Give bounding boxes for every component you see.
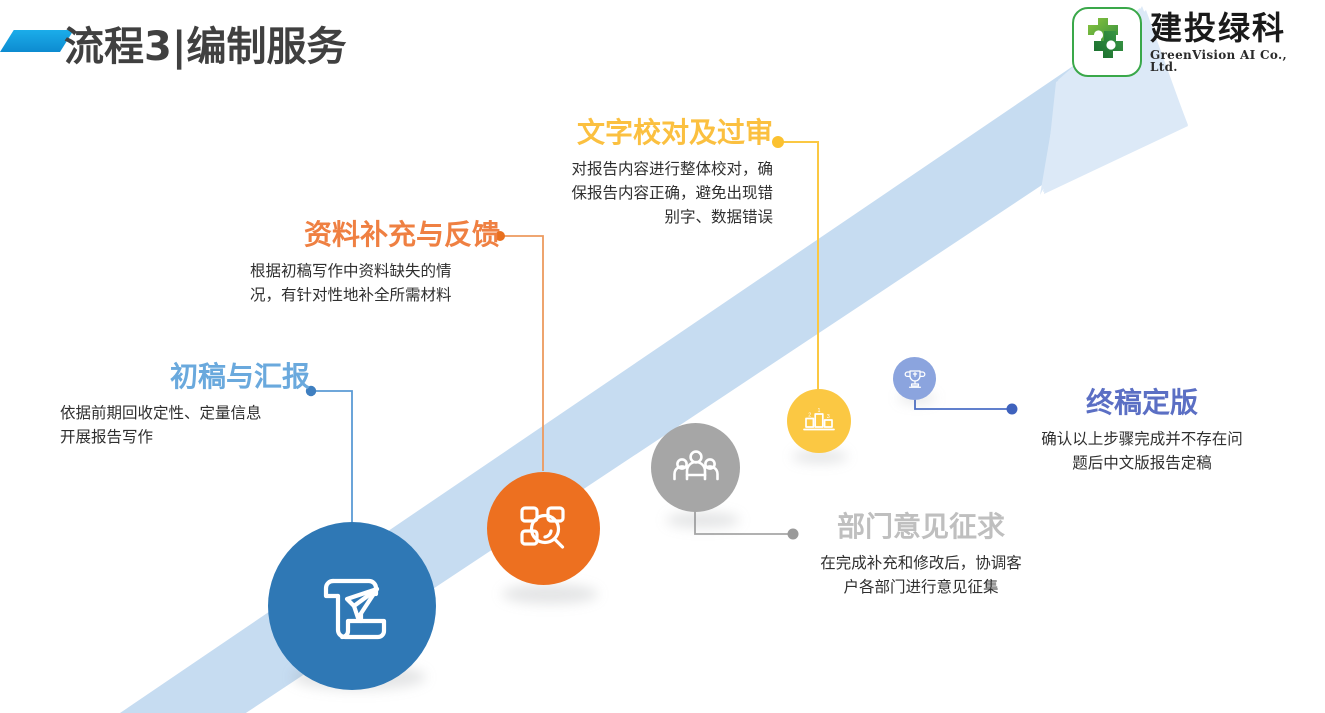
people-group-icon (671, 443, 721, 493)
step-body-line: 保报告内容正确，避免出现错 (528, 181, 773, 205)
node-shadow-material (502, 584, 598, 604)
step-node-final-version[interactable] (893, 357, 936, 400)
step-body-line: 确认以上步骤完成并不存在问 (1022, 427, 1262, 451)
step-body-line: 在完成补充和修改后，协调客 (805, 551, 1037, 575)
page-title: 流程3|编制服务 (64, 14, 346, 72)
step-body-line: 题后中文版报告定稿 (1022, 451, 1262, 475)
ascending-arrow-background (0, 0, 1325, 713)
step-title-draft-report: 初稿与汇报 (60, 362, 310, 393)
svg-text:1: 1 (818, 408, 821, 414)
step-body-line: 根据初稿写作中资料缺失的情 (250, 259, 500, 283)
connector-draft-report (300, 380, 370, 540)
connector-proofreading-review (768, 132, 833, 402)
step-body-material-supplement: 根据初稿写作中资料缺失的情 况，有针对性地补全所需材料 (250, 259, 500, 307)
trophy-icon (902, 366, 928, 392)
step-block-draft-report: 初稿与汇报 依据前期回收定性、定量信息 开展报告写作 (60, 362, 310, 449)
step-body-line: 开展报告写作 (60, 425, 310, 449)
svg-text:2: 2 (808, 413, 811, 419)
logo-name-en: GreenVision AI Co., Ltd. (1150, 49, 1317, 73)
step-node-material-supplement[interactable] (487, 472, 600, 585)
svg-text:3: 3 (827, 414, 830, 420)
step-body-line: 况，有针对性地补全所需材料 (250, 283, 500, 307)
node-shadow-department (666, 512, 740, 528)
step-title-proofreading-review: 文字校对及过审 (528, 118, 773, 149)
step-node-department-opinion[interactable] (651, 423, 740, 512)
podium-ranking-icon: 1 2 3 (800, 402, 838, 440)
step-title-department-opinion: 部门意见征求 (805, 512, 1037, 543)
greenvision-logo-icon (1072, 7, 1142, 77)
step-body-line: 户各部门进行意见征集 (805, 575, 1037, 599)
blocks-magnifier-icon (513, 498, 575, 560)
step-node-proofreading-review[interactable]: 1 2 3 (787, 389, 851, 453)
connector-material-supplement (490, 226, 560, 476)
step-block-proofreading-review: 文字校对及过审 对报告内容进行整体校对，确 保报告内容正确，避免出现错 别字、数… (528, 118, 773, 229)
logo-name-cn: 建投绿科 (1150, 12, 1317, 44)
step-body-final-version: 确认以上步骤完成并不存在问 题后中文版报告定稿 (1022, 427, 1262, 475)
step-title-material-supplement: 资料补充与反馈 (250, 220, 500, 251)
brand-logo: 建投绿科 GreenVision AI Co., Ltd. (1072, 4, 1317, 80)
step-block-final-version: 终稿定版 确认以上步骤完成并不存在问 题后中文版报告定稿 (1022, 388, 1262, 475)
step-node-draft-report[interactable] (268, 522, 436, 690)
step-body-line: 对报告内容进行整体校对，确 (528, 157, 773, 181)
step-body-draft-report: 依据前期回收定性、定量信息 开展报告写作 (60, 401, 310, 449)
step-body-line: 别字、数据错误 (528, 205, 773, 229)
step-body-proofreading-review: 对报告内容进行整体校对，确 保报告内容正确，避免出现错 别字、数据错误 (528, 157, 773, 229)
step-body-line: 依据前期回收定性、定量信息 (60, 401, 310, 425)
step-block-department-opinion: 部门意见征求 在完成补充和修改后，协调客 户各部门进行意见征集 (805, 512, 1037, 599)
slide-canvas: 流程3|编制服务 (0, 0, 1325, 713)
scroll-paperplane-icon (309, 563, 395, 649)
header-accent-shape (0, 30, 74, 52)
step-title-final-version: 终稿定版 (1022, 388, 1262, 419)
step-block-material-supplement: 资料补充与反馈 根据初稿写作中资料缺失的情 况，有针对性地补全所需材料 (250, 220, 500, 307)
step-body-department-opinion: 在完成补充和修改后，协调客 户各部门进行意见征集 (805, 551, 1037, 599)
